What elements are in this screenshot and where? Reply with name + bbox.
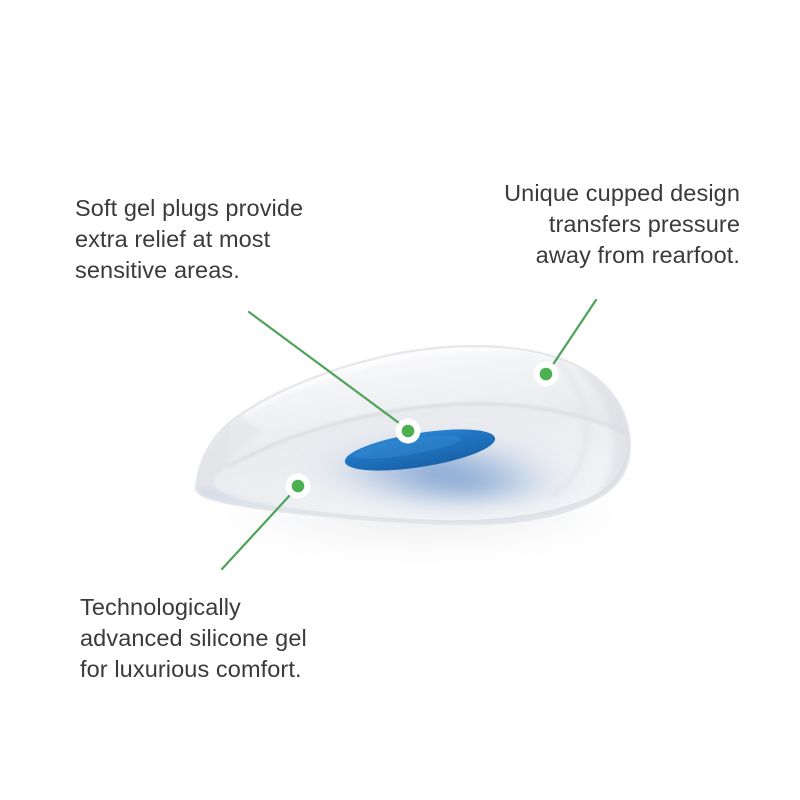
callout-label-cupped-design: Unique cupped design transfers pressure … (440, 178, 740, 271)
product-infographic: Soft gel plugs provide extra relief at m… (0, 0, 800, 800)
callout-label-soft-gel-plugs: Soft gel plugs provide extra relief at m… (75, 193, 375, 286)
callout-label-silicone-gel: Technologically advanced silicone gel fo… (80, 592, 400, 685)
gel-heel-cup-body (196, 346, 633, 530)
